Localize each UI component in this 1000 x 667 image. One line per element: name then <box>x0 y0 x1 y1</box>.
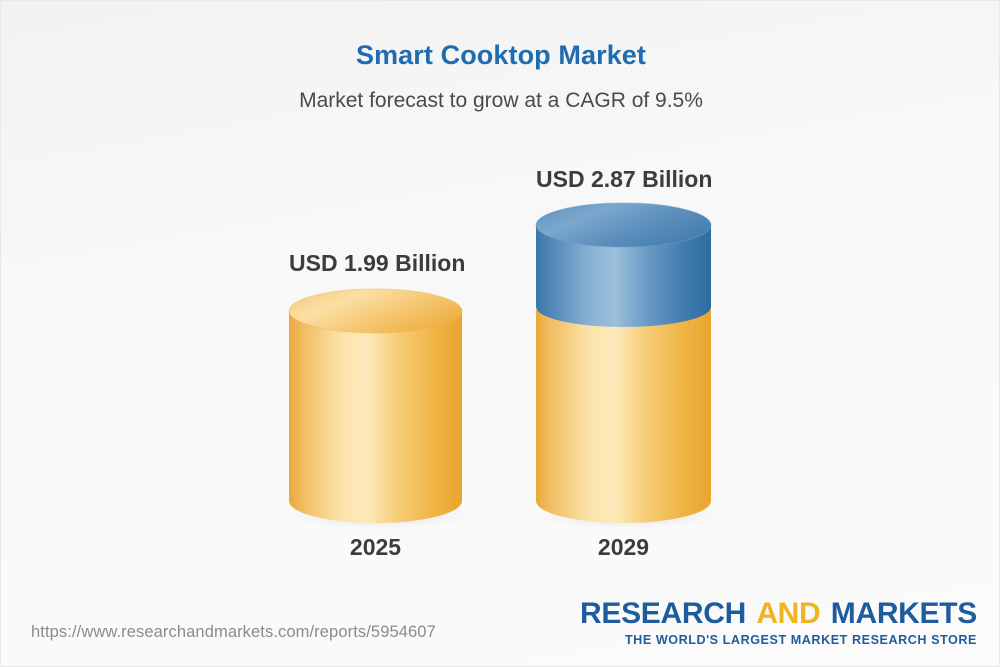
report-url[interactable]: https://www.researchandmarkets.com/repor… <box>31 623 436 642</box>
brand-logo-markets: MARKETS <box>831 597 977 630</box>
bar-value-label-2025: USD 1.99 Billion <box>289 250 462 277</box>
bar-value-label-2029: USD 2.87 Billion <box>536 166 711 193</box>
brand-logo-and: AND <box>756 597 820 630</box>
bar-group-2029: USD 2.87 Billion <box>536 1 711 601</box>
bar-category-label-2029: 2029 <box>536 534 711 561</box>
bar-chart: USD 1.99 Billion <box>1 1 1000 601</box>
brand-logo-wordmark: RESEARCH AND MARKETS <box>580 599 977 629</box>
infographic-canvas: Smart Cooktop Market Market forecast to … <box>0 0 1000 667</box>
cylinder-2029-graphic <box>536 203 711 525</box>
bar-category-label-2025: 2025 <box>289 534 462 561</box>
brand-logo[interactable]: RESEARCH AND MARKETS THE WORLD'S LARGEST… <box>580 599 977 647</box>
brand-logo-tagline: THE WORLD'S LARGEST MARKET RESEARCH STOR… <box>580 633 977 647</box>
brand-logo-research: RESEARCH <box>580 597 746 630</box>
cylinder-2025-graphic <box>289 289 462 525</box>
cylinder-2025 <box>289 289 462 513</box>
bar-group-2025: USD 1.99 Billion <box>289 1 462 601</box>
cylinder-2029 <box>536 203 711 513</box>
